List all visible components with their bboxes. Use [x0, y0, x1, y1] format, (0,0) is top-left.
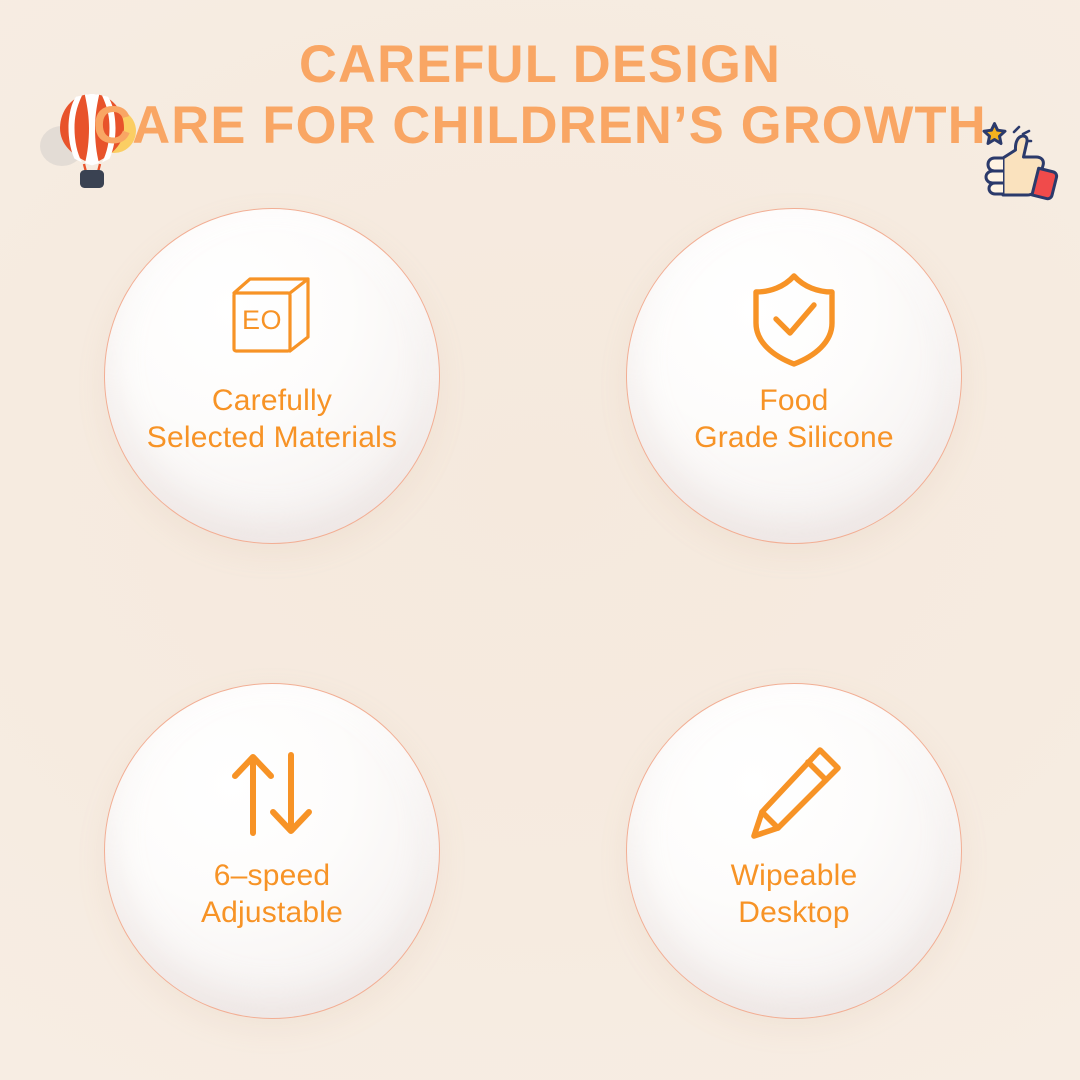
feature-line-2: Grade Silicone: [694, 420, 894, 457]
feature-card-text: Food Grade Silicone: [694, 383, 894, 456]
eo-box-icon: EO: [220, 267, 324, 371]
pencil-icon: [742, 742, 846, 846]
feature-line-1: Carefully: [147, 383, 397, 420]
feature-card-text: Wipeable Desktop: [731, 858, 858, 931]
up-down-arrows-icon: [220, 742, 324, 846]
feature-card-six-speed-adjustable[interactable]: 6–speed Adjustable: [104, 683, 440, 1019]
feature-line-2: Selected Materials: [147, 420, 397, 457]
feature-line-1: 6–speed: [201, 858, 343, 895]
feature-card-carefully-selected-materials[interactable]: EO Carefully Selected Materials: [104, 208, 440, 544]
eo-box-label: EO: [242, 305, 282, 335]
shield-check-icon: [742, 267, 846, 371]
feature-card-food-grade-silicone[interactable]: Food Grade Silicone: [626, 208, 962, 544]
feature-line-1: Food: [694, 383, 894, 420]
feature-line-1: Wipeable: [731, 858, 858, 895]
feature-card-text: Carefully Selected Materials: [147, 383, 397, 456]
feature-line-2: Adjustable: [201, 895, 343, 932]
promo-graphic: CAREFUL DESIGN CARE FOR CHILDREN’S GROWT…: [0, 0, 1080, 1080]
feature-card-grid: EO Carefully Selected Materials Food: [0, 0, 1080, 1080]
feature-card-text: 6–speed Adjustable: [201, 858, 343, 931]
feature-card-wipeable-desktop[interactable]: Wipeable Desktop: [626, 683, 962, 1019]
feature-line-2: Desktop: [731, 895, 858, 932]
